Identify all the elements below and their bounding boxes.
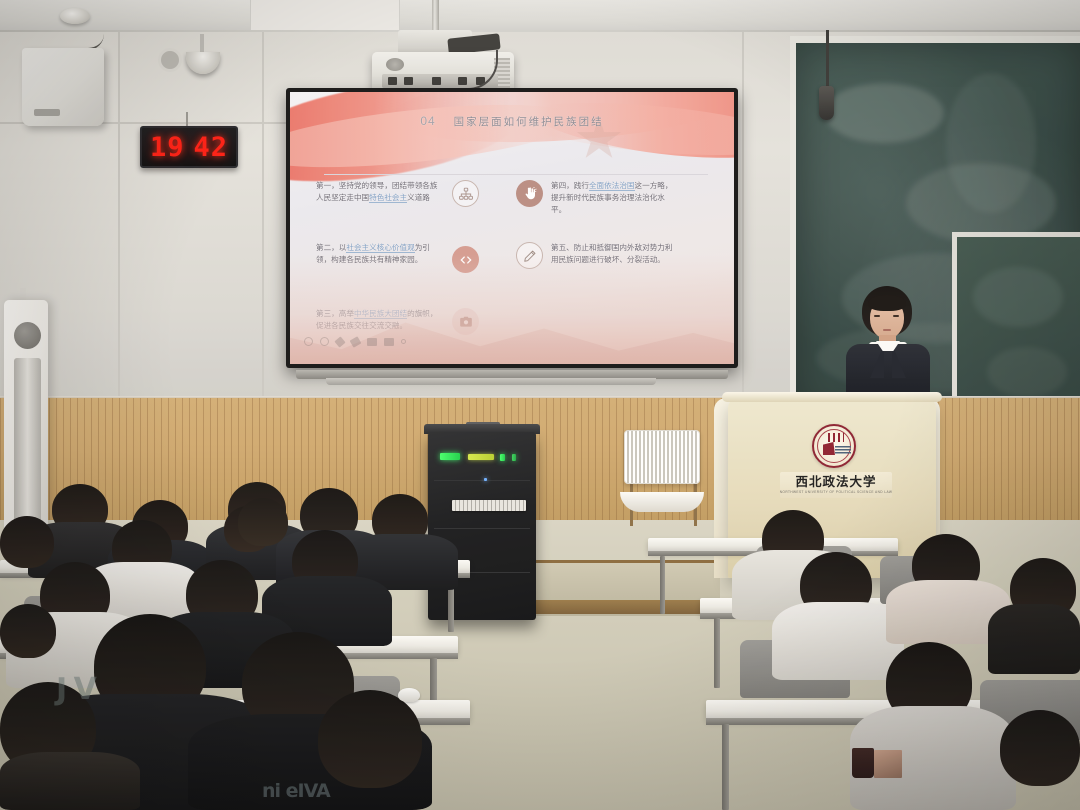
wall-seam	[742, 32, 744, 398]
ac-dial-icon	[14, 322, 41, 349]
wall-seam	[118, 32, 120, 398]
phone-screen[interactable]	[874, 750, 902, 778]
clock-hours: 19	[150, 134, 185, 161]
marker-icon[interactable]	[350, 336, 362, 347]
presenter	[836, 286, 940, 404]
projector-port	[404, 77, 413, 85]
projector-mount-rod	[432, 0, 439, 34]
patch-panel	[452, 500, 526, 511]
university-name-cn: 西北政法大学	[795, 476, 876, 489]
drink-cup[interactable]	[852, 748, 874, 778]
university-nameplate: 西北政法大学 NORTHWEST UNIVERSITY OF POLITICAL…	[780, 472, 892, 498]
computer-mouse[interactable]	[398, 688, 420, 702]
status-led-amber	[468, 454, 494, 460]
hanging-microphone-icon	[819, 86, 834, 120]
screen-icon[interactable]	[384, 338, 394, 346]
student-head	[1000, 710, 1080, 786]
chalkboard-right-panel	[952, 232, 1080, 414]
folding-chair-back[interactable]	[624, 430, 700, 484]
student-body	[772, 602, 904, 680]
microphone-cord	[826, 30, 829, 90]
slide-number: 04	[420, 114, 435, 128]
clock-minutes: 42	[194, 134, 229, 161]
screen-roller-case	[326, 378, 656, 385]
student-head	[318, 690, 422, 788]
bullet-4-text: 第四，践行全面依法治国这一方略，提升新时代民族事务治理法治化水平。	[551, 180, 679, 215]
slide-bullet-1: 第一，坚持党的领导，团结带领各族人民坚定走中国特色社会主义道路	[316, 180, 479, 207]
wall-speaker-icon	[22, 48, 104, 126]
projector-lens-icon	[386, 58, 404, 71]
slide-title-row: 04国家层面如何维护民族团结	[290, 114, 734, 129]
org-chart-icon	[452, 180, 479, 207]
slides-icon[interactable]	[367, 338, 377, 346]
projection-screen: 04国家层面如何维护民族团结 第一，坚持党的领导，团结带领各族人民坚定走中国特色…	[286, 88, 738, 368]
presenter-fringe	[868, 295, 906, 311]
circle-icon[interactable]	[304, 337, 313, 346]
student-head	[0, 516, 54, 568]
ac-vent	[14, 358, 41, 528]
slide-bullet-4: 第四，践行全面依法治国这一方略，提升新时代民族事务治理法治化水平。	[516, 180, 679, 215]
podium-top	[722, 392, 942, 402]
slide-canvas: 04国家层面如何维护民族团结 第一，坚持党的领导，团结带领各族人民坚定走中国特色…	[290, 92, 734, 364]
slide-divider	[324, 174, 708, 175]
status-led-green	[512, 454, 516, 461]
university-crest-logo	[812, 424, 856, 468]
ceiling	[0, 0, 1080, 34]
status-led-blue	[484, 478, 487, 481]
shirt-graphic: ni eIVA	[262, 780, 330, 802]
stage-edge	[520, 600, 720, 614]
wall-seam	[262, 32, 264, 398]
smoke-detector-icon	[60, 8, 90, 24]
more-icon[interactable]	[401, 339, 406, 344]
camera-arm	[200, 34, 204, 54]
status-led-green	[500, 454, 505, 461]
projector-port	[388, 77, 397, 85]
digital-clock: 19 42	[140, 126, 238, 168]
folding-chair-seat[interactable]	[620, 492, 704, 512]
hoodie-graphic: J V	[56, 672, 95, 707]
status-led-green	[440, 453, 460, 460]
student-head	[0, 604, 56, 658]
bullet-1-text: 第一，坚持党的领导，团结带领各族人民坚定走中国特色社会主义道路	[316, 180, 444, 204]
camera-mount-ring	[158, 48, 182, 72]
student-body	[0, 752, 140, 810]
av-equipment-rack	[428, 432, 536, 620]
presentation-toolbar[interactable]	[304, 337, 406, 346]
student-head	[238, 498, 288, 546]
hand-icon	[516, 180, 543, 207]
circle-icon[interactable]	[320, 337, 329, 346]
university-name-en: NORTHWEST UNIVERSITY OF POLITICAL SCIENC…	[780, 490, 893, 494]
ceiling-panel	[250, 0, 400, 30]
slide-title-text: 国家层面如何维护民族团结	[454, 116, 604, 128]
lecture-hall-photo: 19 42 04国家层面如何维护民族团结	[0, 0, 1080, 810]
pen-icon[interactable]	[334, 336, 345, 347]
student-body	[988, 604, 1080, 674]
